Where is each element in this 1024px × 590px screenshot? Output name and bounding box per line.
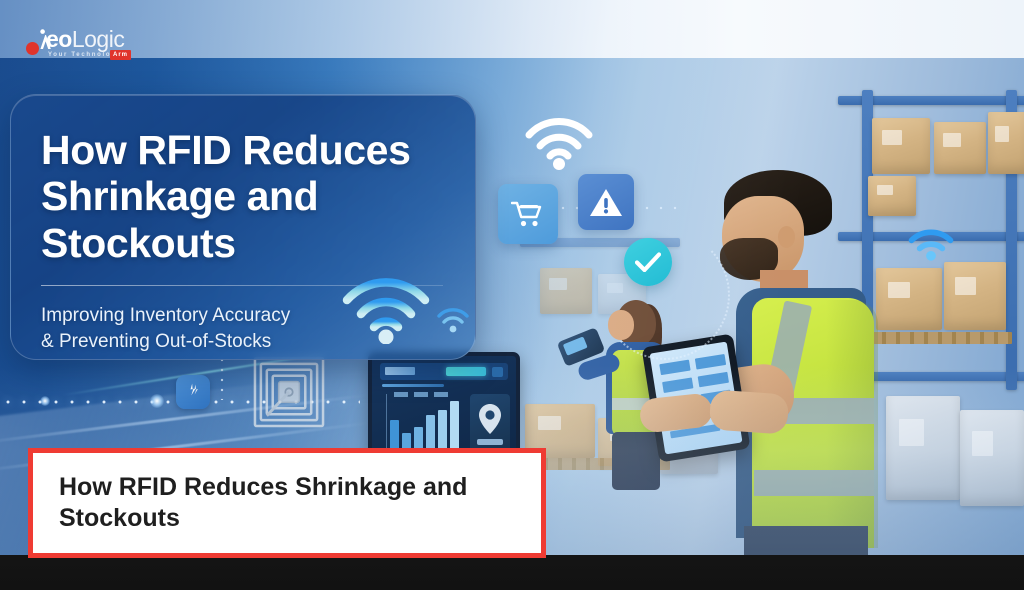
logo-wordmark: eoLogic <box>46 28 124 51</box>
location-pin-icon <box>478 404 502 434</box>
check-circle-icon <box>624 238 672 286</box>
data-flow-line-vertical <box>219 355 225 400</box>
logo-word-aeo: eo <box>46 26 72 52</box>
rfid-tag-icon <box>252 355 326 429</box>
chart-bar <box>438 410 447 449</box>
warning-triangle-icon <box>578 174 634 230</box>
inventory-bar-chart <box>386 394 470 454</box>
logo-word-logic: Logic <box>72 26 124 52</box>
wifi-signal-icon <box>523 112 595 170</box>
chart-bars <box>390 397 470 449</box>
article-heading-card: How RFID Reduces Shrinkage and Stockouts <box>28 448 546 558</box>
dashboard-header-bar <box>380 363 508 380</box>
chart-bar <box>402 433 411 450</box>
rfid-chip-icon <box>176 375 210 409</box>
wifi-gradient-icon <box>340 272 432 344</box>
hero-title: How RFID Reduces Shrinkage and Stockouts <box>41 127 445 266</box>
brand-logo[interactable]: eoLogic Your Technology Arm <box>24 28 142 64</box>
logo-tagline-badge: Arm <box>110 50 131 60</box>
article-heading: How RFID Reduces Shrinkage and Stockouts <box>33 472 493 535</box>
ceiling-band <box>0 0 1024 60</box>
wifi-small-icon <box>436 306 470 334</box>
location-pin-card <box>470 394 510 454</box>
chart-bar <box>426 415 435 449</box>
shopping-cart-icon <box>498 184 558 244</box>
shelf-wifi-icon <box>905 222 957 262</box>
chart-bar <box>414 427 423 450</box>
chart-bar <box>390 420 399 449</box>
chart-bar <box>450 401 459 449</box>
screenshot-canvas: How RFID Reduces Shrinkage and Stockouts… <box>0 0 1024 590</box>
